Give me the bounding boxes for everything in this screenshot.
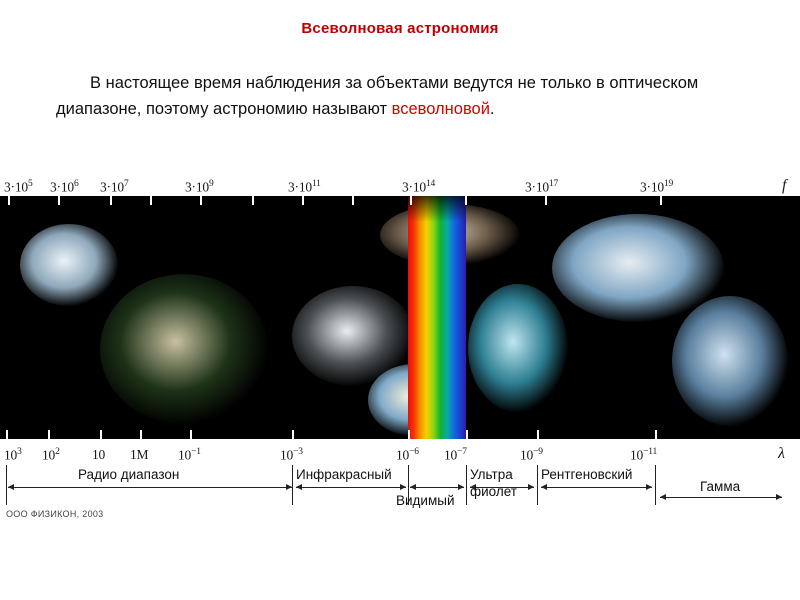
page-title: Всеволновая астрономия: [0, 0, 800, 37]
band-divider-0: [6, 465, 7, 505]
wavelength-axis-tick-0: [6, 430, 8, 439]
frequency-axis-tick-5: [410, 196, 412, 205]
wavelength-axis-symbol: λ: [778, 445, 785, 463]
arecibo-observatory: [100, 274, 268, 424]
frequency-axis-tick-6: [545, 196, 547, 205]
wavelength-tick-label-1: 102: [42, 447, 60, 464]
band-label-0: Радио диапазон: [78, 467, 179, 482]
band-divider-3: [466, 465, 467, 505]
wavelength-tick-label-4: 10−1: [178, 447, 201, 464]
wavelength-axis-tick-4: [190, 430, 192, 439]
electromagnetic-spectrum-figure: 3·1053·1063·1073·1093·10113·10143·10173·…: [0, 168, 800, 520]
wavelength-axis-tick-6: [408, 430, 410, 439]
band-label-6: Гамма: [700, 479, 740, 494]
frequency-tick-label-3: 3·109: [185, 179, 214, 196]
band-label-4: фиолет: [470, 484, 517, 499]
wavelength-tick-label-2: 10: [92, 447, 105, 463]
frequency-tick-label-2: 3·107: [100, 179, 129, 196]
radio-dish-telescope: [20, 224, 118, 306]
frequency-axis-tick-11: [465, 196, 467, 205]
frequency-axis-symbol: f: [782, 177, 786, 195]
copyright-notice: ООО ФИЗИКОН, 2003: [6, 509, 103, 519]
wavelength-tick-label-0: 103: [4, 447, 22, 464]
frequency-axis-tick-4: [302, 196, 304, 205]
frequency-tick-label-7: 3·1019: [640, 179, 673, 196]
frequency-axis-tick-2: [110, 196, 112, 205]
visible-light-rainbow-band: [408, 196, 466, 439]
wavelength-tick-label-7: 10−7: [444, 447, 467, 464]
spectrum-image-strip: [0, 196, 800, 439]
band-label-2: Видимый: [396, 493, 455, 508]
frequency-axis-tick-10: [352, 196, 354, 205]
wavelength-axis-tick-3: [140, 430, 142, 439]
intro-text-highlight: всеволновой: [392, 100, 490, 118]
wavelength-tick-label-9: 10−11: [630, 447, 657, 464]
frequency-axis-tick-0: [8, 196, 10, 205]
frequency-axis-tick-8: [150, 196, 152, 205]
wavelength-axis-tick-8: [537, 430, 539, 439]
spectrum-band-brackets: ООО ФИЗИКОН, 2003 Радио диапазонИнфракра…: [0, 465, 800, 523]
wavelength-axis-tick-5: [292, 430, 294, 439]
gamma-cherenkov-telescope: [672, 296, 788, 426]
frequency-tick-label-4: 3·1011: [288, 179, 321, 196]
wavelength-axis-tick-7: [466, 430, 468, 439]
wavelength-tick-label-6: 10−6: [396, 447, 419, 464]
band-arrow-5: [541, 487, 652, 488]
intro-paragraph: В настоящее время наблюдения за объектам…: [56, 71, 744, 122]
frequency-tick-label-5: 3·1014: [402, 179, 435, 196]
band-label-3: Ультра: [470, 467, 513, 482]
band-divider-1: [292, 465, 293, 505]
wavelength-tick-label-5: 10−3: [280, 447, 303, 464]
band-arrow-0: [8, 487, 292, 488]
frequency-axis-labels: 3·1053·1063·1073·1093·10113·10143·10173·…: [0, 168, 800, 196]
frequency-tick-label-1: 3·106: [50, 179, 79, 196]
band-arrow-6: [660, 497, 782, 498]
wavelength-tick-label-3: 1М: [130, 447, 148, 463]
band-arrow-2: [410, 487, 464, 488]
wavelength-axis-tick-9: [655, 430, 657, 439]
frequency-tick-label-6: 3·1017: [525, 179, 558, 196]
wavelength-tick-label-8: 10−9: [520, 447, 543, 464]
band-label-5: Рентгеновский: [541, 467, 632, 482]
wavelength-axis-tick-1: [48, 430, 50, 439]
intro-text-before: В настоящее время наблюдения за объектам…: [56, 74, 698, 118]
band-arrow-1: [296, 487, 406, 488]
frequency-axis-tick-7: [660, 196, 662, 205]
band-label-1: Инфракрасный: [296, 467, 392, 482]
intro-text-after: .: [490, 100, 495, 118]
band-divider-5: [537, 465, 538, 505]
frequency-axis-tick-3: [200, 196, 202, 205]
frequency-axis-tick-1: [58, 196, 60, 205]
frequency-tick-label-0: 3·105: [4, 179, 33, 196]
band-divider-6: [655, 465, 656, 505]
wavelength-axis-tick-2: [100, 430, 102, 439]
ultraviolet-satellite: [468, 284, 568, 412]
wavelength-axis-labels: 103102101М10−110−310−610−710−910−11λ: [0, 439, 800, 465]
frequency-axis-tick-9: [252, 196, 254, 205]
